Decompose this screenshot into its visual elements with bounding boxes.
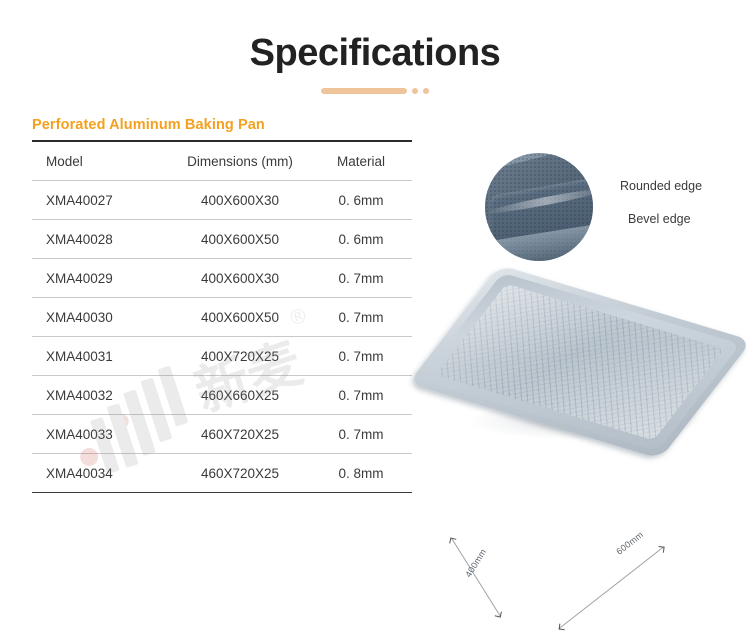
cell-model: XMA40034 — [32, 454, 170, 493]
cell-material: 0. 7mm — [310, 337, 412, 376]
table-row: XMA40029 400X600X30 0. 7mm — [32, 259, 412, 298]
column-header-model: Model — [32, 141, 170, 181]
table-row: XMA40031 400X720X25 0. 7mm — [32, 337, 412, 376]
dimension-label-length: 600mm — [614, 529, 645, 556]
cell-dimensions: 460X720X25 — [170, 415, 310, 454]
cell-model: XMA40030 — [32, 298, 170, 337]
cell-model: XMA40029 — [32, 259, 170, 298]
cell-model: XMA40031 — [32, 337, 170, 376]
title-ornament — [0, 86, 750, 96]
cell-dimensions: 460X660X25 — [170, 376, 310, 415]
dimension-line-width — [451, 538, 501, 617]
cell-dimensions: 460X720X25 — [170, 454, 310, 493]
cell-dimensions: 400X600X30 — [170, 259, 310, 298]
table-row: XMA40032 460X660X25 0. 7mm — [32, 376, 412, 415]
section-heading: Perforated Aluminum Baking Pan — [32, 117, 265, 133]
spec-table-body: XMA40027 400X600X30 0. 6mm XMA40028 400X… — [32, 181, 412, 493]
page-title: Specifications — [0, 30, 750, 76]
cell-material: 0. 7mm — [310, 376, 412, 415]
cell-model: XMA40028 — [32, 220, 170, 259]
column-header-dimensions: Dimensions (mm) — [170, 141, 310, 181]
cell-material: 0. 6mm — [310, 220, 412, 259]
baking-pan-image: 400mm 600mm — [446, 280, 746, 470]
label-bevel-edge: Bevel edge — [628, 212, 691, 226]
product-image-area: Rounded edge Bevel edge 400mm 600mm — [440, 140, 750, 500]
cell-material: 0. 7mm — [310, 259, 412, 298]
cell-dimensions: 400X600X50 — [170, 298, 310, 337]
cell-material: 0. 7mm — [310, 415, 412, 454]
cell-material: 0. 8mm — [310, 454, 412, 493]
spec-table: Model Dimensions (mm) Material XMA40027 … — [32, 140, 412, 493]
cell-dimensions: 400X600X50 — [170, 220, 310, 259]
ornament-dot-2 — [423, 88, 429, 94]
table-row: XMA40033 460X720X25 0. 7mm — [32, 415, 412, 454]
cell-material: 0. 7mm — [310, 298, 412, 337]
label-rounded-edge: Rounded edge — [620, 179, 702, 193]
table-row: XMA40027 400X600X30 0. 6mm — [32, 181, 412, 220]
cell-dimensions: 400X720X25 — [170, 337, 310, 376]
ornament-bar — [321, 88, 407, 94]
spec-table-container: Model Dimensions (mm) Material XMA40027 … — [32, 140, 412, 493]
cell-model: XMA40033 — [32, 415, 170, 454]
column-header-material: Material — [310, 141, 412, 181]
cell-model: XMA40027 — [32, 181, 170, 220]
spec-table-head: Model Dimensions (mm) Material — [32, 141, 412, 181]
cell-model: XMA40032 — [32, 376, 170, 415]
dimension-line-length — [559, 547, 664, 629]
cell-material: 0. 6mm — [310, 181, 412, 220]
edge-detail-inset — [485, 153, 593, 261]
table-header-row: Model Dimensions (mm) Material — [32, 141, 412, 181]
table-row: XMA40028 400X600X50 0. 6mm — [32, 220, 412, 259]
ornament-dot-1 — [412, 88, 418, 94]
cell-dimensions: 400X600X30 — [170, 181, 310, 220]
table-row: XMA40030 400X600X50 0. 7mm — [32, 298, 412, 337]
table-row: XMA40034 460X720X25 0. 8mm — [32, 454, 412, 493]
